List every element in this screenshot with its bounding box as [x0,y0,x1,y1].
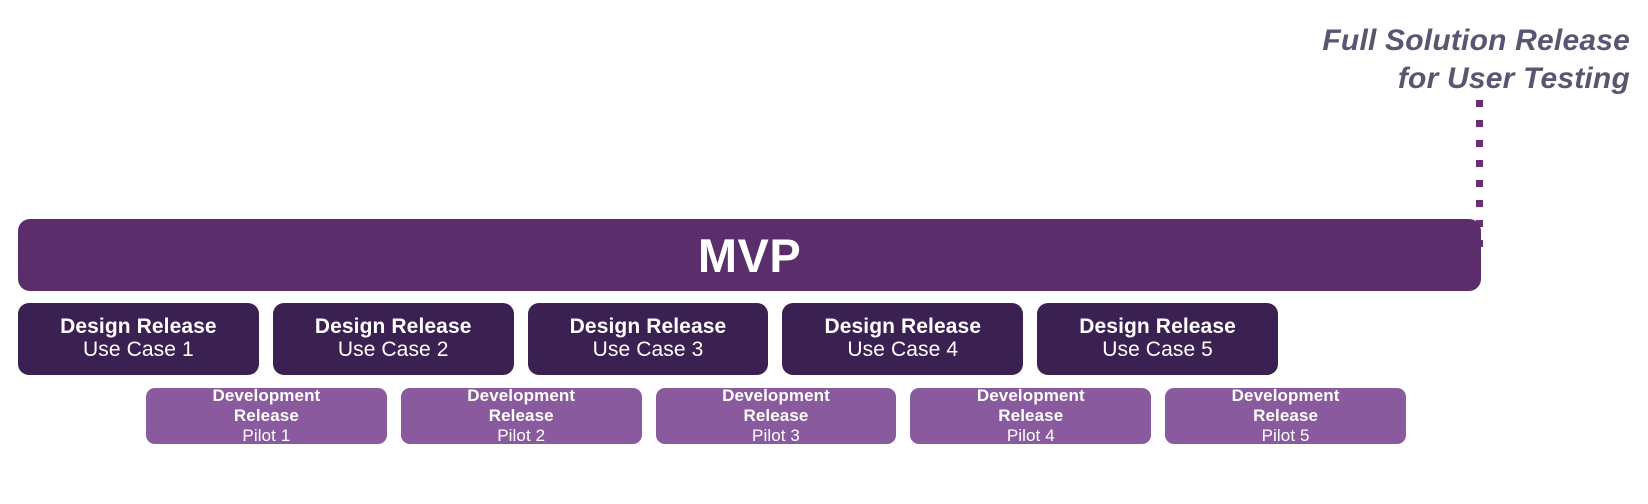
design-release-subtitle: Use Case 4 [847,338,958,363]
development-release-card[interactable]: DevelopmentReleasePilot 5 [1165,388,1406,444]
mvp-bar: MVP [18,219,1481,291]
development-release-subtitle: Pilot 2 [497,426,545,446]
development-release-title-line-2: Release [1253,406,1318,426]
development-release-card[interactable]: DevelopmentReleasePilot 3 [656,388,897,444]
design-release-title: Design Release [570,315,727,339]
development-release-title-line-2: Release [234,406,299,426]
design-release-title: Design Release [60,315,217,339]
annotation-line-2: for User Testing [1070,60,1630,98]
development-release-card[interactable]: DevelopmentReleasePilot 2 [401,388,642,444]
design-release-title: Design Release [824,315,981,339]
development-release-subtitle: Pilot 5 [1262,426,1310,446]
annotation-line-1: Full Solution Release [1070,22,1630,60]
connector-dot [1476,100,1483,107]
connector-dot [1476,120,1483,127]
design-release-row: Design ReleaseUse Case 1Design ReleaseUs… [18,303,1278,375]
development-release-title-line-1: Development [467,386,575,406]
design-release-subtitle: Use Case 3 [593,338,704,363]
development-release-title-line-1: Development [722,386,830,406]
development-release-subtitle: Pilot 4 [1007,426,1055,446]
connector-dot [1476,140,1483,147]
development-release-title-line-1: Development [212,386,320,406]
development-release-row: DevelopmentReleasePilot 1DevelopmentRele… [146,388,1406,444]
development-release-title-line-1: Development [977,386,1085,406]
design-release-card[interactable]: Design ReleaseUse Case 2 [273,303,514,375]
design-release-subtitle: Use Case 1 [83,338,194,363]
development-release-title-line-2: Release [744,406,809,426]
development-release-subtitle: Pilot 1 [242,426,290,446]
design-release-card[interactable]: Design ReleaseUse Case 3 [528,303,769,375]
connector-dot [1476,180,1483,187]
design-release-title: Design Release [315,315,472,339]
connector-dot [1476,200,1483,207]
development-release-card[interactable]: DevelopmentReleasePilot 4 [910,388,1151,444]
design-release-subtitle: Use Case 5 [1102,338,1213,363]
development-release-subtitle: Pilot 3 [752,426,800,446]
design-release-title: Design Release [1079,315,1236,339]
full-solution-release-annotation: Full Solution Release for User Testing [1070,22,1630,98]
development-release-card[interactable]: DevelopmentReleasePilot 1 [146,388,387,444]
design-release-card[interactable]: Design ReleaseUse Case 5 [1037,303,1278,375]
development-release-title-line-2: Release [998,406,1063,426]
roadmap-diagram: Full Solution Release for User Testing M… [0,0,1648,504]
design-release-subtitle: Use Case 2 [338,338,449,363]
design-release-card[interactable]: Design ReleaseUse Case 4 [782,303,1023,375]
development-release-title-line-1: Development [1232,386,1340,406]
design-release-card[interactable]: Design ReleaseUse Case 1 [18,303,259,375]
connector-dot [1476,160,1483,167]
mvp-label: MVP [698,232,801,279]
development-release-title-line-2: Release [489,406,554,426]
